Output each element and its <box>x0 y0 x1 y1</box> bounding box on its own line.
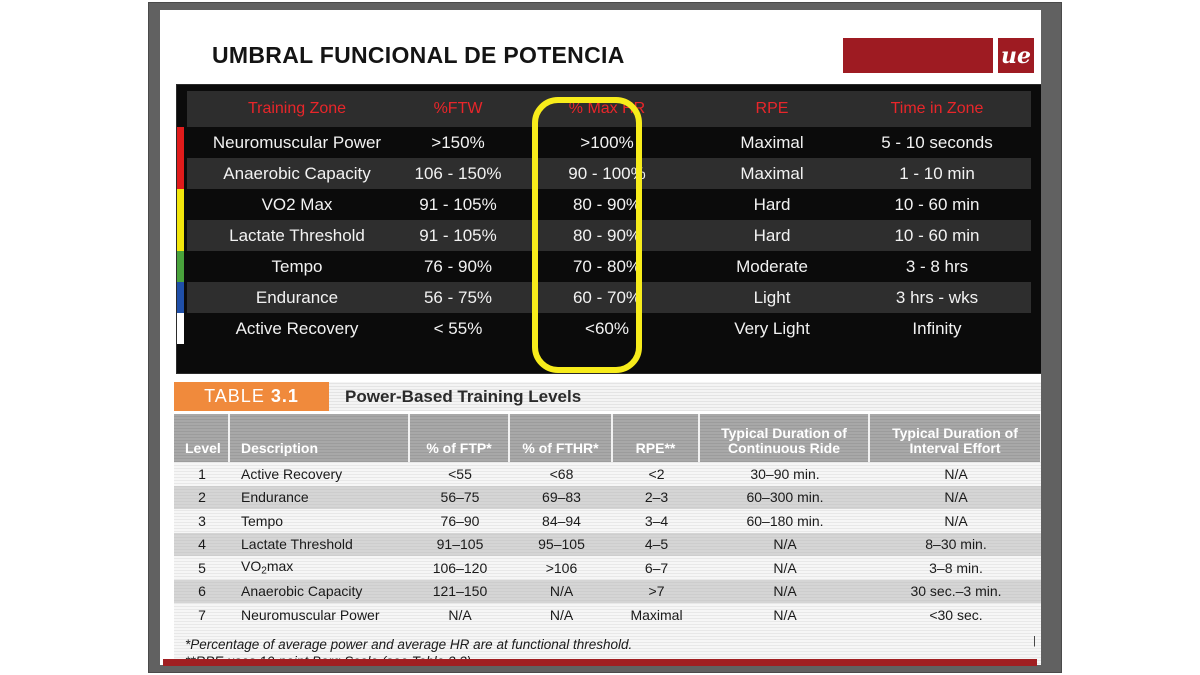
table-row: 4 Lactate Threshold 91–105 95–105 4–5 N/… <box>174 533 1041 557</box>
col-header-pct-ftp: % of FTP* <box>410 414 510 462</box>
book-table-header-row: Level Description % of FTP* % of FTHR* R… <box>174 414 1041 462</box>
cell-rpe: Maximal <box>613 607 700 623</box>
col-header-pct-fthr: % of FTHR* <box>510 414 613 462</box>
cell-rpe: 4–5 <box>613 536 700 552</box>
table-row: 6 Anaerobic Capacity 121–150 N/A >7 N/A … <box>174 580 1041 604</box>
col-header-continuous-line1: Typical Duration of <box>721 425 847 441</box>
cell-pct-ftp: 121–150 <box>410 583 510 599</box>
zone-time: 3 - 8 hrs <box>847 257 1027 277</box>
zone-rpe: Light <box>697 288 847 308</box>
footnote-ftp: *Percentage of average power and average… <box>185 636 1041 653</box>
cell-level: 7 <box>174 607 230 623</box>
col-header-time-in-zone: Time in Zone <box>847 100 1027 118</box>
cell-continuous: N/A <box>700 560 870 576</box>
cell-continuous: 60–300 min. <box>700 489 870 505</box>
zone-time: 10 - 60 min <box>847 195 1027 215</box>
zone-ftw: 56 - 75% <box>399 288 517 308</box>
col-header-training-zone: Training Zone <box>187 100 399 118</box>
zone-table-row: Endurance 56 - 75% 60 - 70% Light 3 hrs … <box>187 282 1031 313</box>
col-header-rpe: RPE** <box>613 414 700 462</box>
zone-ftw: 91 - 105% <box>399 195 517 215</box>
zone-ftw: 91 - 105% <box>399 226 517 246</box>
cell-pct-ftp: 91–105 <box>410 536 510 552</box>
zone-rpe: Hard <box>697 195 847 215</box>
zone-color-bar <box>177 220 184 251</box>
zone-ftw: >150% <box>399 133 517 153</box>
page-title: UMBRAL FUNCIONAL DE POTENCIA <box>212 42 625 69</box>
col-header-interval-line1: Typical Duration of <box>892 425 1018 441</box>
cell-level: 2 <box>174 489 230 505</box>
cell-pct-fthr: >106 <box>510 560 613 576</box>
logo-mark: ue <box>998 38 1034 73</box>
zone-rpe: Maximal <box>697 133 847 153</box>
col-header-interval-effort: Typical Duration ofInterval Effort <box>870 414 1041 462</box>
cell-description: Anaerobic Capacity <box>230 583 410 599</box>
zone-time: 3 hrs - wks <box>847 288 1027 308</box>
slide-content: UMBRAL FUNCIONAL DE POTENCIA ue Training… <box>160 10 1041 665</box>
zone-color-bar <box>177 282 184 313</box>
table-caption-banner: TABLE 3.1 Power-Based Training Levels <box>174 382 1041 411</box>
cell-interval: N/A <box>870 466 1041 482</box>
zone-max-hr: 90 - 100% <box>517 164 697 184</box>
table-badge-label: TABLE <box>204 386 265 407</box>
cell-pct-fthr: N/A <box>510 583 613 599</box>
brand-logo: ue <box>843 38 1034 73</box>
cell-pct-fthr: N/A <box>510 607 613 623</box>
cell-continuous: 30–90 min. <box>700 466 870 482</box>
cell-pct-fthr: 95–105 <box>510 536 613 552</box>
zone-table-header-row: Training Zone %FTW % Max HR RPE Time in … <box>187 91 1031 127</box>
table-row: 5 VO2max 106–120 >106 6–7 N/A 3–8 min. <box>174 556 1041 580</box>
table-row: 7 Neuromuscular Power N/A N/A Maximal N/… <box>174 603 1041 627</box>
zone-time: 10 - 60 min <box>847 226 1027 246</box>
zone-max-hr: 60 - 70% <box>517 288 697 308</box>
cell-pct-ftp: <55 <box>410 466 510 482</box>
cell-interval: 8–30 min. <box>870 536 1041 552</box>
cell-continuous: N/A <box>700 536 870 552</box>
zone-rpe: Hard <box>697 226 847 246</box>
zone-ftw: 106 - 150% <box>399 164 517 184</box>
zone-table-row: Anaerobic Capacity 106 - 150% 90 - 100% … <box>187 158 1031 189</box>
zone-ftw: 76 - 90% <box>399 257 517 277</box>
cell-description: Neuromuscular Power <box>230 607 410 623</box>
table-row: 1 Active Recovery <55 <68 <2 30–90 min. … <box>174 462 1041 486</box>
zone-max-hr: <60% <box>517 319 697 339</box>
logo-mark-text: ue <box>998 38 1034 73</box>
cell-rpe: >7 <box>613 583 700 599</box>
cell-rpe: <2 <box>613 466 700 482</box>
logo-bar <box>843 38 993 73</box>
zone-rpe: Moderate <box>697 257 847 277</box>
cell-interval: 3–8 min. <box>870 560 1041 576</box>
zone-color-bar <box>177 127 184 158</box>
zone-color-bar <box>177 313 184 344</box>
zone-table-row: Neuromuscular Power >150% >100% Maximal … <box>187 127 1031 158</box>
cell-interval: N/A <box>870 513 1041 529</box>
zone-color-bar <box>177 189 184 220</box>
cell-description: Lactate Threshold <box>230 536 410 552</box>
cell-interval: <30 sec. <box>870 607 1041 623</box>
zone-rpe: Very Light <box>697 319 847 339</box>
cell-pct-fthr: 84–94 <box>510 513 613 529</box>
cell-pct-fthr: <68 <box>510 466 613 482</box>
col-header-rpe: RPE <box>697 100 847 118</box>
zone-max-hr: 80 - 90% <box>517 226 697 246</box>
training-zone-table: Training Zone %FTW % Max HR RPE Time in … <box>176 84 1041 374</box>
cell-description: Active Recovery <box>230 466 410 482</box>
table-badge-number: 3.1 <box>271 386 299 407</box>
cell-interval: 30 sec.–3 min. <box>870 583 1041 599</box>
zone-name: Tempo <box>187 257 399 277</box>
zone-max-hr: 80 - 90% <box>517 195 697 215</box>
cell-continuous: N/A <box>700 583 870 599</box>
table-caption-text: Power-Based Training Levels <box>345 387 581 407</box>
zone-ftw: < 55% <box>399 319 517 339</box>
cell-pct-ftp: 56–75 <box>410 489 510 505</box>
power-based-training-levels-table: Level Description % of FTP* % of FTHR* R… <box>174 414 1041 665</box>
slide-page: UMBRAL FUNCIONAL DE POTENCIA ue Training… <box>0 0 1200 675</box>
zone-name: Lactate Threshold <box>187 226 399 246</box>
cell-level: 6 <box>174 583 230 599</box>
cell-continuous: N/A <box>700 607 870 623</box>
cell-pct-fthr: 69–83 <box>510 489 613 505</box>
zone-name: Endurance <box>187 288 399 308</box>
cell-rpe: 2–3 <box>613 489 700 505</box>
table-row: 2 Endurance 56–75 69–83 2–3 60–300 min. … <box>174 486 1041 510</box>
col-header-max-hr: % Max HR <box>517 100 697 118</box>
cell-description: VO2max <box>230 558 410 577</box>
cell-rpe: 3–4 <box>613 513 700 529</box>
zone-max-hr: 70 - 80% <box>517 257 697 277</box>
zone-table-row: Lactate Threshold 91 - 105% 80 - 90% Har… <box>187 220 1031 251</box>
col-header-continuous-ride: Typical Duration ofContinuous Ride <box>700 414 870 462</box>
cell-level: 4 <box>174 536 230 552</box>
slide-bottom-accent-bar <box>163 659 1037 666</box>
zone-name: Active Recovery <box>187 319 399 339</box>
zone-time: 5 - 10 seconds <box>847 133 1027 153</box>
page-corner-mark: | <box>1033 635 1036 647</box>
cell-level: 5 <box>174 560 230 576</box>
cell-level: 1 <box>174 466 230 482</box>
cell-pct-ftp: 106–120 <box>410 560 510 576</box>
cell-pct-ftp: 76–90 <box>410 513 510 529</box>
cell-pct-ftp: N/A <box>410 607 510 623</box>
col-header-description: Description <box>230 414 410 462</box>
zone-name: Anaerobic Capacity <box>187 164 399 184</box>
zone-color-bar <box>177 251 184 282</box>
table-number-badge: TABLE 3.1 <box>174 382 329 411</box>
col-header-continuous-line2: Continuous Ride <box>728 440 840 456</box>
col-header-interval-line2: Interval Effort <box>909 440 1000 456</box>
col-header-ftw: %FTW <box>399 100 517 118</box>
col-header-level: Level <box>174 414 230 462</box>
cell-continuous: 60–180 min. <box>700 513 870 529</box>
cell-description: Endurance <box>230 489 410 505</box>
table-row: 3 Tempo 76–90 84–94 3–4 60–180 min. N/A <box>174 509 1041 533</box>
zone-max-hr: >100% <box>517 133 697 153</box>
zone-time: 1 - 10 min <box>847 164 1027 184</box>
zone-rpe: Maximal <box>697 164 847 184</box>
cell-interval: N/A <box>870 489 1041 505</box>
cell-level: 3 <box>174 513 230 529</box>
cell-description: Tempo <box>230 513 410 529</box>
cell-rpe: 6–7 <box>613 560 700 576</box>
zone-table-row: Active Recovery < 55% <60% Very Light In… <box>187 313 1031 344</box>
zone-time: Infinity <box>847 319 1027 339</box>
zone-color-bar <box>177 158 184 189</box>
zone-table-row: VO2 Max 91 - 105% 80 - 90% Hard 10 - 60 … <box>187 189 1031 220</box>
zone-name: Neuromuscular Power <box>187 133 399 153</box>
zone-name: VO2 Max <box>187 195 399 215</box>
zone-table-row: Tempo 76 - 90% 70 - 80% Moderate 3 - 8 h… <box>187 251 1031 282</box>
